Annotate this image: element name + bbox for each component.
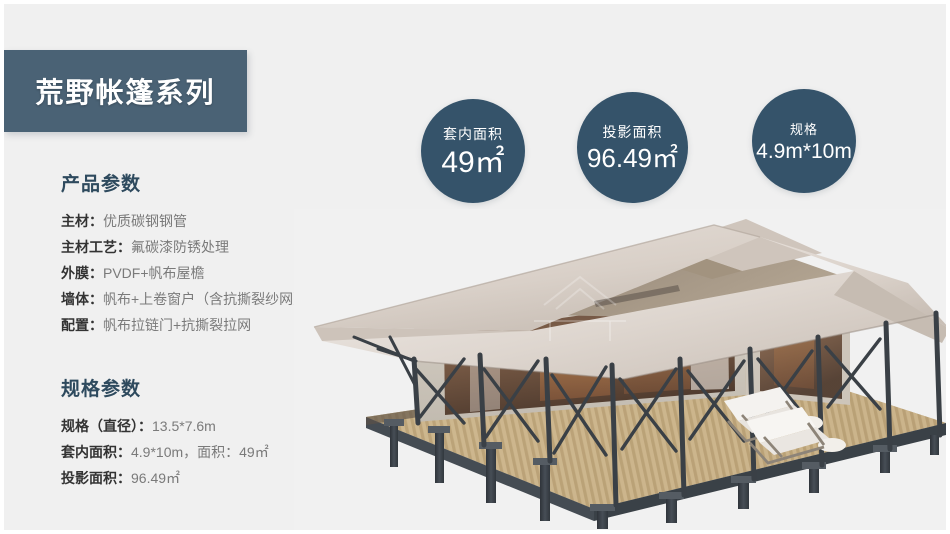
stat-value: 96.49㎡	[587, 145, 678, 172]
spec-value: 帆布+上卷窗户（含抗撕裂纱网）	[103, 291, 307, 307]
spec-value: PVDF+帆布屋檐	[103, 265, 205, 281]
spec-value: 优质碳钢钢管	[103, 213, 187, 229]
spec-label: 规格（直径）：	[61, 418, 152, 434]
title-banner: 荒野帐篷系列	[4, 50, 247, 132]
spec-label: 墙体：	[61, 291, 103, 307]
spec-label: 主材：	[61, 213, 103, 229]
spec-value: 96.49㎡	[131, 470, 180, 486]
page-title: 荒野帐篷系列	[35, 71, 215, 111]
stat-label: 套内面积	[443, 124, 503, 144]
spec-label: 套内面积：	[61, 444, 131, 460]
stat-circle-interior-area: 套内面积 49㎡	[421, 99, 525, 203]
tent-3d-render	[294, 209, 950, 534]
stat-value: 49㎡	[441, 147, 504, 179]
stat-value: 4.9m*10m	[756, 141, 852, 163]
stat-circle-dimensions: 规格 4.9m*10m	[752, 89, 856, 193]
stat-label: 投影面积	[603, 122, 663, 142]
spec-label: 投影面积：	[61, 470, 131, 486]
spec-value: 13.5*7.6m	[152, 418, 216, 434]
product-params-heading: 产品参数	[61, 169, 361, 196]
stat-circle-projected-area: 投影面积 96.49㎡	[577, 92, 688, 203]
spec-value: 4.9*10m，面积：49㎡	[131, 444, 269, 460]
spec-label: 配置：	[61, 317, 103, 333]
stat-label: 规格	[790, 119, 818, 138]
spec-value: 氟碳漆防锈处理	[131, 239, 229, 255]
slide-canvas: 荒野帐篷系列 产品参数 主材：优质碳钢钢管 主材工艺：氟碳漆防锈处理 外膜：PV…	[0, 0, 950, 534]
tent-illustration	[294, 209, 950, 534]
spec-label: 外膜：	[61, 265, 103, 281]
spec-label: 主材工艺：	[61, 239, 131, 255]
spec-value: 帆布拉链门+抗撕裂拉网	[103, 317, 251, 333]
